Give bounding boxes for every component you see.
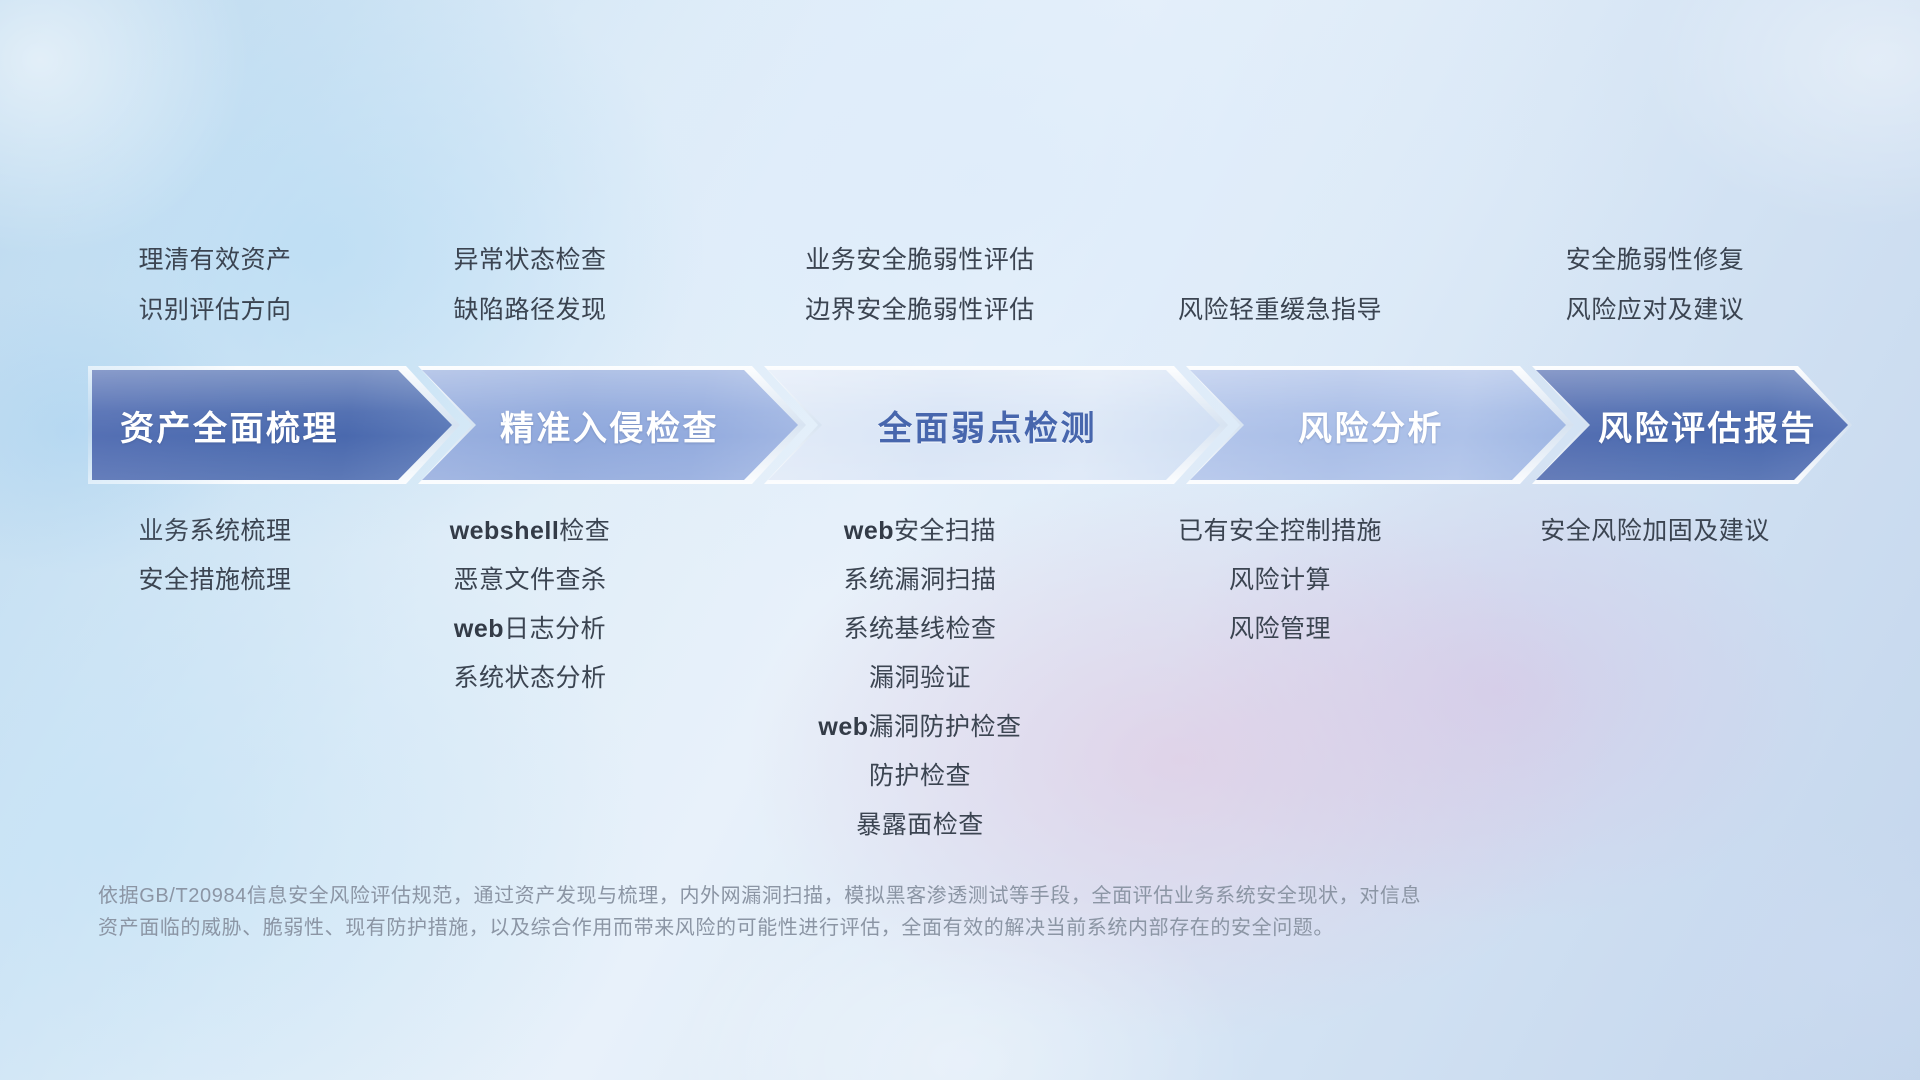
chevron-label: 资产全面梳理 [120,401,339,450]
stage-bottom-labels-intrusion-check: webshell检查恶意文件查杀web日志分析系统状态分析 [355,519,705,691]
bottom-label-item: 风险计算 [1105,568,1455,593]
bottom-label-item: 安全风险加固及建议 [1455,519,1855,544]
chevron-stage-asset-inventory[interactable]: 资产全面梳理 [92,370,452,480]
bottom-label-item: 系统漏洞扫描 [700,568,1140,593]
bottom-label-item: 系统基线检查 [700,617,1140,642]
chevron-stage-intrusion-check[interactable]: 精准入侵检查 [422,370,798,480]
stage-bottom-labels-weakness-detection: web安全扫描系统漏洞扫描系统基线检查漏洞验证web漏洞防护检查防护检查暴露面检… [700,519,1140,838]
bottom-label-item: web日志分析 [355,617,705,642]
bottom-label-keyword: webshell [450,517,560,545]
bottom-label-item: 风险管理 [1105,617,1455,642]
chevron-label: 精准入侵检查 [500,401,719,450]
bottom-label-item: 漏洞验证 [700,666,1140,691]
bottom-label-item: 已有安全控制措施 [1105,519,1455,544]
caption-line-2: 资产面临的威胁、脆弱性、现有防护措施，以及综合作用而带来风险的可能性进行评估，全… [98,912,1658,944]
bottom-label-item: 恶意文件查杀 [355,568,705,593]
stage-bottom-labels-risk-report: 安全风险加固及建议 [1455,519,1855,544]
bottom-label-item: 防护检查 [700,764,1140,789]
bottom-label-item: web漏洞防护检查 [700,715,1140,740]
bottom-label-keyword: web [454,615,504,643]
chevron-label: 风险分析 [1298,401,1444,450]
stage-bottom-labels-risk-analysis: 已有安全控制措施风险计算风险管理 [1105,519,1455,642]
bottom-label-keyword: web [818,713,868,741]
bottom-label-keyword: web [844,517,894,545]
chevron-stage-weakness-detection[interactable]: 全面弱点检测 [768,370,1220,480]
footer-caption: 依据GB/T20984信息安全风险评估规范，通过资产发现与梳理，内外网漏洞扫描，… [98,880,1658,945]
chevron-label: 全面弱点检测 [878,401,1097,450]
slide-canvas: 理清有效资产识别评估方向 异常状态检查缺陷路径发现 业务安全脆弱性评估边界安全脆… [0,0,1920,1080]
bottom-label-item: webshell检查 [355,519,705,544]
chevron-label: 风险评估报告 [1598,401,1817,450]
chevron-stage-risk-analysis[interactable]: 风险分析 [1190,370,1566,480]
caption-line-1: 依据GB/T20984信息安全风险评估规范，通过资产发现与梳理，内外网漏洞扫描，… [98,880,1658,912]
bottom-label-item: web安全扫描 [700,519,1140,544]
bottom-label-item: 暴露面检查 [700,813,1140,838]
bottom-label-item: 系统状态分析 [355,666,705,691]
